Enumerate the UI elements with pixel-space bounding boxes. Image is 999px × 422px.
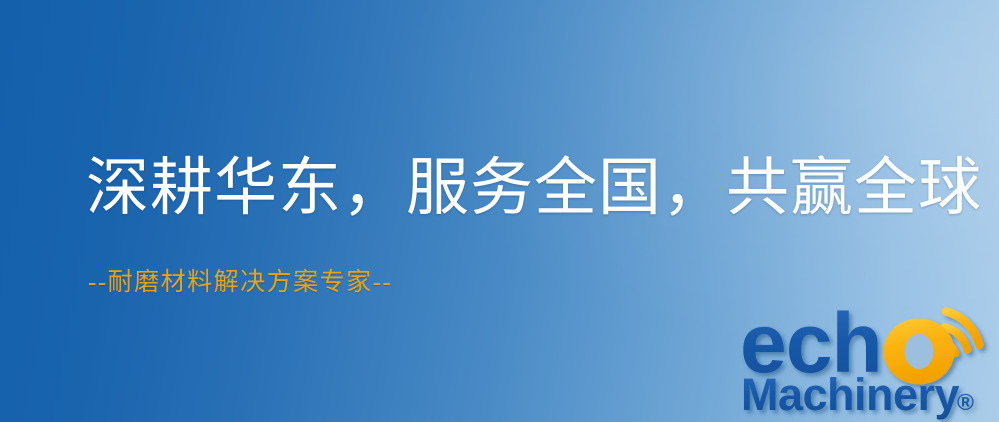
registered-trademark-icon: ® <box>957 389 974 415</box>
echo-machinery-logo: ech Machinery ® <box>741 296 993 418</box>
banner-subtitle: --耐磨材料解决方案专家-- <box>88 268 392 298</box>
page-title: 深耕华东，服务全国，共赢全球 <box>86 155 982 222</box>
logo-text-machinery: Machinery <box>741 369 960 420</box>
promo-banner: 深耕华东，服务全国，共赢全球 --耐磨材料解决方案专家-- <box>0 0 999 422</box>
